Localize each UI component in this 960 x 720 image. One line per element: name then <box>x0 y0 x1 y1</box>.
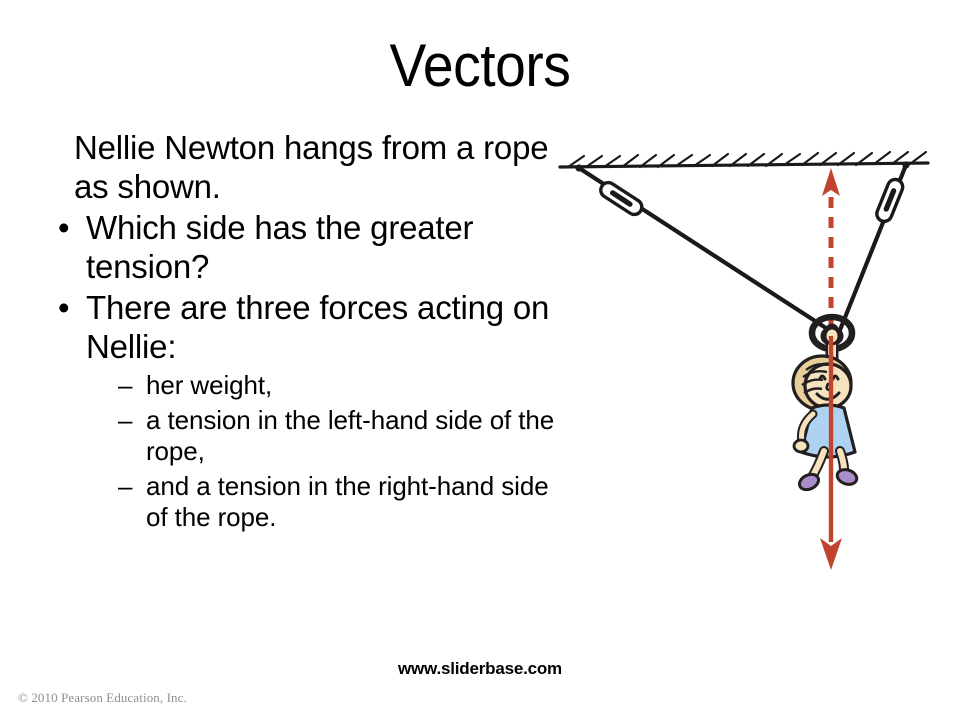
dash-glyph-icon: – <box>118 405 132 436</box>
dash-glyph-icon: – <box>118 471 132 502</box>
list-item: – and a tension in the right-hand side o… <box>48 471 568 533</box>
list-item: • There are three forces acting on Nelli… <box>48 288 568 366</box>
bullet-list: Nellie Newton hangs from a rope as shown… <box>48 128 568 533</box>
slide-canvas: Vectors Nellie Newton hangs from a rope … <box>0 0 960 720</box>
list-item: – a tension in the left-hand side of the… <box>48 405 568 467</box>
list-item-label: and a tension in the right-hand side of … <box>146 471 549 532</box>
list-item-label: a tension in the left-hand side of the r… <box>146 405 554 466</box>
right-rope <box>840 161 910 330</box>
right-turnbuckle <box>875 177 905 223</box>
nellie <box>793 328 859 493</box>
list-item: Nellie Newton hangs from a rope as shown… <box>48 128 568 206</box>
list-item-label: There are three forces acting on Nellie: <box>86 288 568 366</box>
page-title: Vectors <box>38 34 921 98</box>
left-rope <box>575 164 829 330</box>
left-turnbuckle <box>598 180 645 218</box>
list-item-label: her weight, <box>146 370 272 400</box>
dash-glyph-icon: – <box>118 370 132 401</box>
list-item: • Which side has the greater tension? <box>48 208 568 286</box>
list-item: – her weight, <box>48 370 568 401</box>
bullet-glyph-icon: • <box>58 208 69 247</box>
list-item-label: Which side has the greater tension? <box>86 208 568 286</box>
list-item-label: Nellie Newton hangs from a rope as shown… <box>60 128 568 206</box>
diagram-svg <box>540 130 950 600</box>
bullet-glyph-icon: • <box>58 288 69 327</box>
ceiling <box>560 152 928 167</box>
copyright-notice: © 2010 Pearson Education, Inc. <box>18 690 187 706</box>
physics-diagram <box>540 130 950 600</box>
up-arrow <box>822 168 840 328</box>
site-credit: www.sliderbase.com <box>0 659 960 679</box>
shoe-right-icon <box>835 467 858 486</box>
